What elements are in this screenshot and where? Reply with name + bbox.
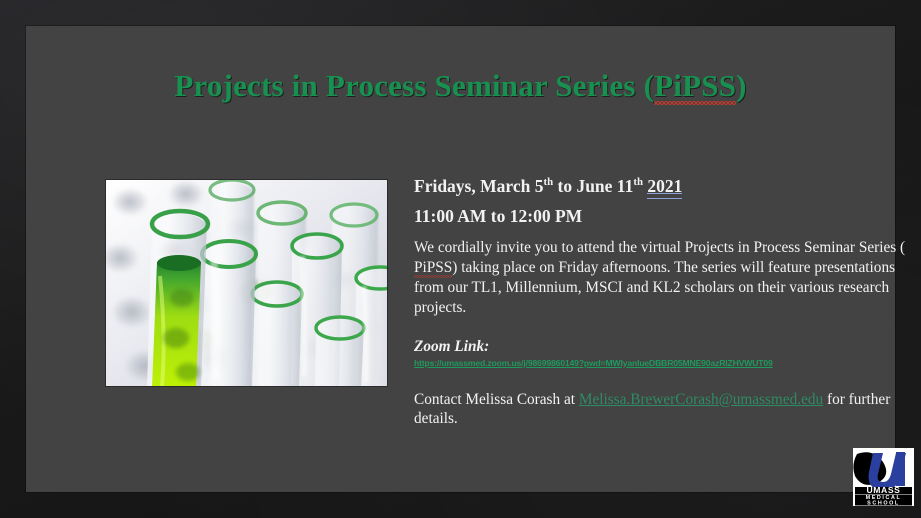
date-ordinal-1: th: [543, 176, 553, 188]
date-text-2: to June 11: [553, 176, 633, 196]
invitation-text-2: ) taking place on Friday afternoons. The…: [414, 259, 895, 316]
date-year-smarttag[interactable]: 2021: [647, 178, 682, 196]
logo-line-1: UMASS: [866, 485, 900, 495]
invitation-text-1: We cordially invite you to attend the vi…: [414, 239, 905, 256]
title-text-after: ): [736, 68, 747, 103]
time-line: 11:00 AM to 12:00 PM: [414, 208, 914, 226]
umass-logo-graphic: UMASS MEDICAL SCHOOL: [853, 448, 914, 506]
date-line: Fridays, March 5th to June 11th 2021: [414, 178, 914, 196]
zoom-link-label: Zoom Link:: [414, 338, 914, 356]
zoom-meeting-link[interactable]: https://umassmed.zoom.us/j/98699860149?p…: [414, 358, 914, 368]
invitation-spellcheck-term: PiPSS: [414, 258, 452, 278]
page-title: Projects in Process Seminar Series (PiPS…: [26, 68, 895, 104]
title-spellcheck-term: PiPSS: [654, 68, 736, 104]
test-tubes-illustration: [106, 180, 387, 386]
invitation-paragraph: We cordially invite you to attend the vi…: [414, 238, 913, 318]
date-text-1: Fridays, March 5: [414, 176, 543, 196]
slide-content-panel: Projects in Process Seminar Series (PiPS…: [26, 26, 895, 492]
details-column: Fridays, March 5th to June 11th 2021 11:…: [414, 178, 914, 429]
contact-email-link[interactable]: Melissa.BrewerCorash@umassmed.edu: [579, 391, 823, 408]
title-text-before: Projects in Process Seminar Series (: [174, 68, 654, 103]
contact-paragraph: Contact Melissa Corash at Melissa.Brewer…: [414, 390, 913, 429]
presentation-slide: Projects in Process Seminar Series (PiPS…: [0, 0, 921, 518]
umass-medical-school-logo: UMASS MEDICAL SCHOOL: [853, 448, 914, 506]
logo-line-3: SCHOOL: [867, 501, 900, 506]
contact-prefix: Contact Melissa Corash at: [414, 391, 579, 408]
date-ordinal-2: th: [633, 176, 643, 188]
test-tubes-photo: [106, 180, 387, 386]
